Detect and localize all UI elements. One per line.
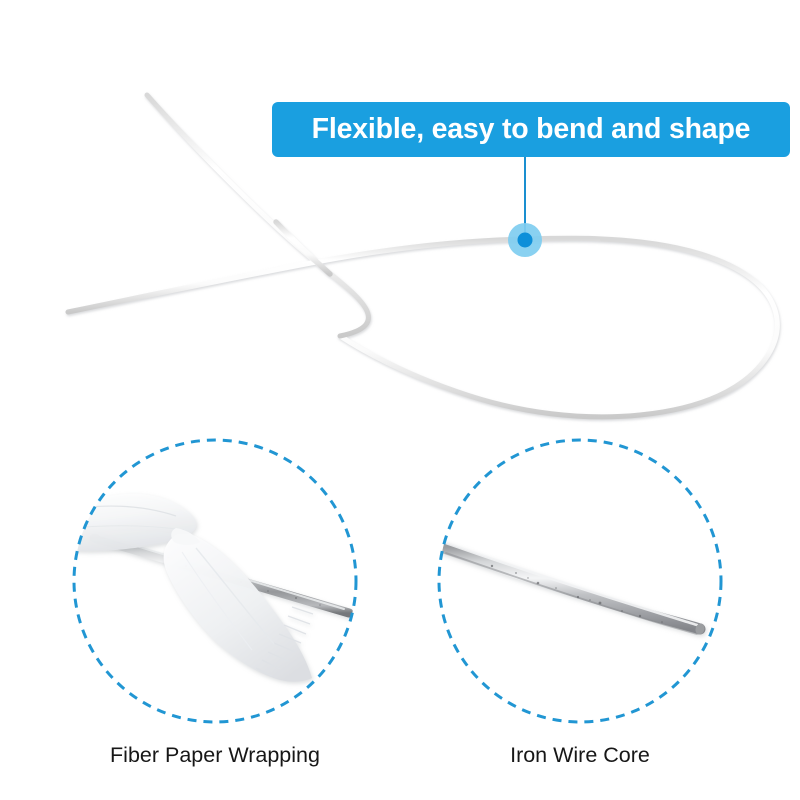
callout-marker[interactable]	[508, 223, 542, 257]
feature-callout-label: Flexible, easy to bend and shape	[312, 115, 751, 144]
detail-left-paper-skirt	[164, 534, 312, 682]
detail-fiber-paper-wrapping	[58, 440, 356, 722]
detail-right-wire-rod	[441, 547, 700, 629]
caption-fiber-paper-wrapping: Fiber Paper Wrapping	[55, 745, 375, 767]
product-feature-infographic: Flexible, easy to bend and shape Fiber P…	[0, 0, 800, 800]
caption-iron-wire-core: Iron Wire Core	[420, 745, 740, 767]
wire-loop-right	[340, 239, 777, 417]
feature-callout-badge[interactable]: Flexible, easy to bend and shape	[272, 102, 790, 157]
detail-iron-wire-core	[439, 440, 721, 722]
detail-right-wire-highlight	[446, 543, 697, 625]
marker-dot	[518, 233, 533, 248]
detail-circle-right-outline	[439, 440, 721, 722]
